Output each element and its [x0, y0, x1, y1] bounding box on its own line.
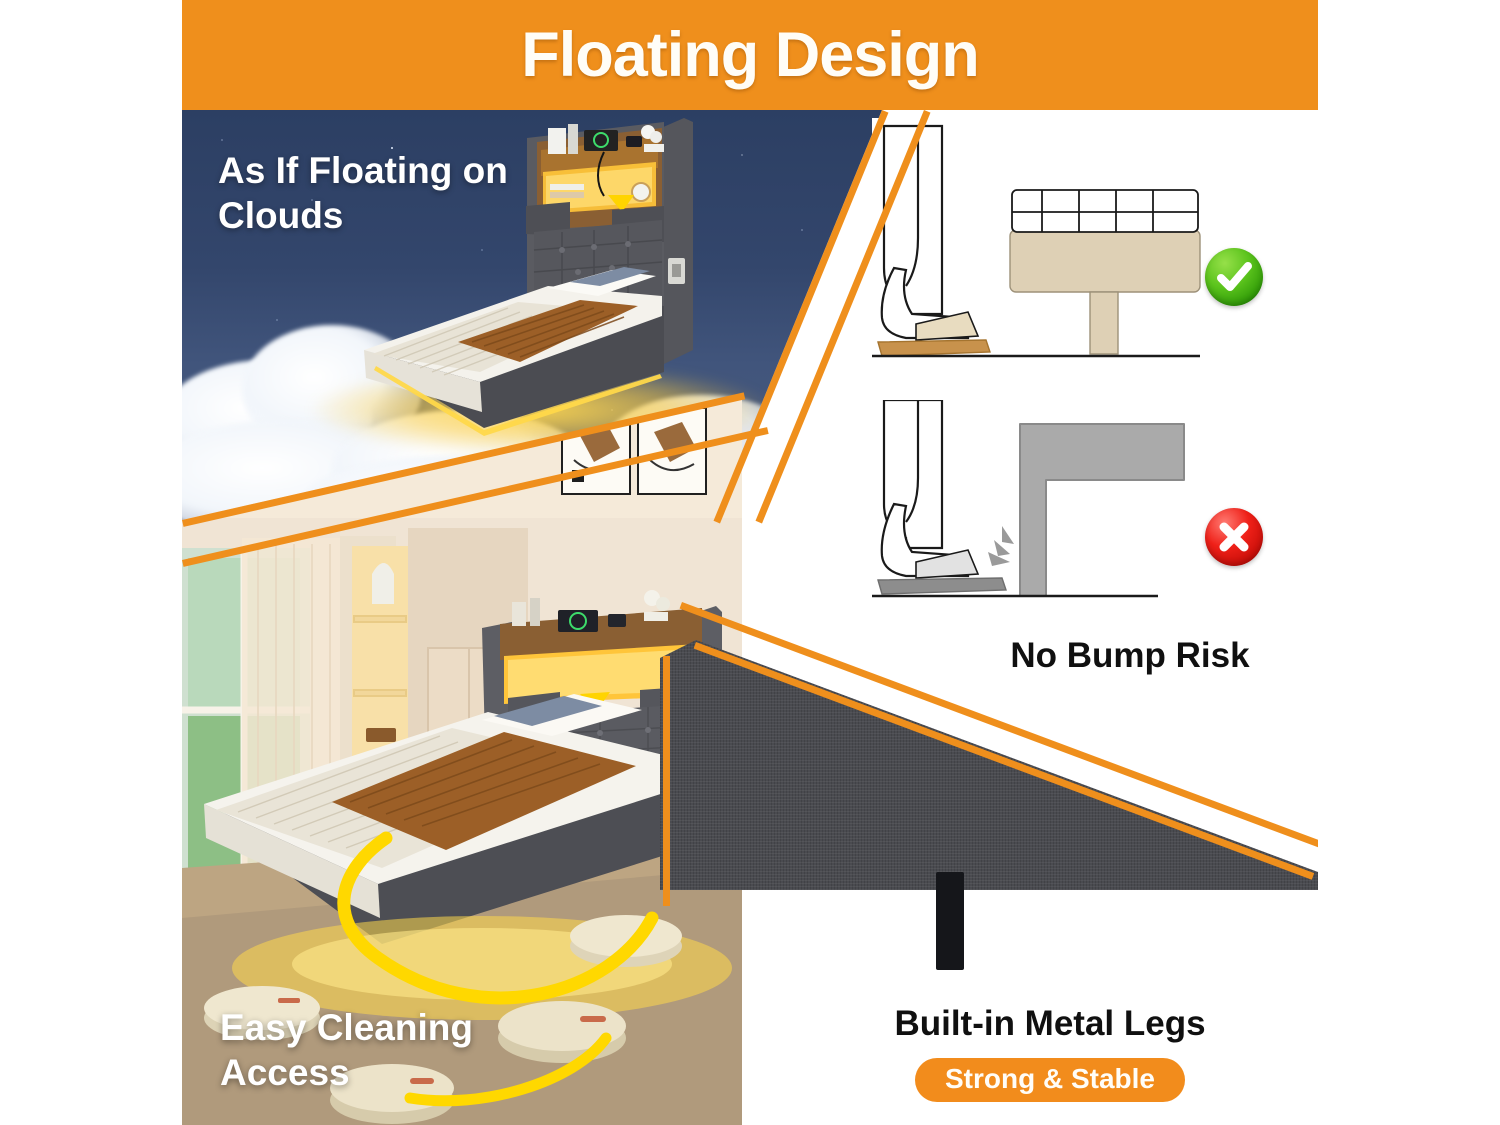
label-built-in-metal-legs: Built-in Metal Legs: [782, 1004, 1318, 1044]
divider-stroke: [663, 656, 670, 906]
header-banner: Floating Design: [182, 0, 1318, 110]
check-circle-icon: [1205, 248, 1263, 306]
metal-leg: [936, 872, 964, 970]
panel-caption-floating: As If Floating on Clouds: [218, 148, 508, 238]
content-frame: Floating Design: [182, 0, 1318, 1125]
panel-caption-cleaning: Easy Cleaning Access: [220, 1005, 473, 1095]
panel-metal-legs: [660, 640, 1318, 890]
label-no-bump-risk: No Bump Risk: [942, 636, 1318, 676]
x-circle-icon: [1205, 508, 1263, 566]
infographic-canvas: Floating Design: [0, 0, 1500, 1125]
fabric-texture: [660, 640, 1318, 890]
page-title: Floating Design: [182, 0, 1318, 110]
badge-strong-stable: Strong & Stable: [850, 1058, 1250, 1102]
badge-label: Strong & Stable: [915, 1058, 1185, 1102]
